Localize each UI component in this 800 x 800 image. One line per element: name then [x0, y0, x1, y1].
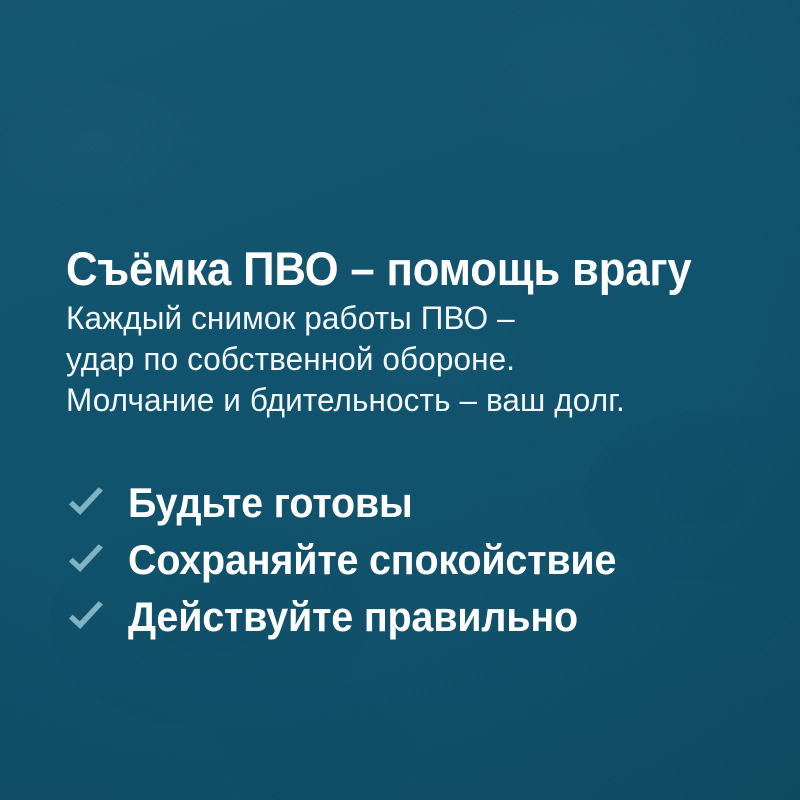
- poster-content: Съёмка ПВО – помощь врагу Каждый снимок …: [0, 0, 800, 800]
- list-item-label: Будьте готовы: [128, 480, 412, 526]
- subtitle-line-3: Молчание и бдительность – ваш долг.: [66, 380, 775, 421]
- subtitle-line-2: удар по собственной обороне.: [66, 339, 775, 380]
- list-item: Сохраняйте спокойствие: [66, 531, 766, 588]
- check-icon: [66, 597, 106, 637]
- checklist: Будьте готовы Сохраняйте спокойствие Дей…: [66, 474, 766, 645]
- list-item: Будьте готовы: [66, 474, 766, 531]
- check-icon: [66, 483, 106, 523]
- check-icon: [66, 540, 106, 580]
- list-item: Действуйте правильно: [66, 588, 766, 645]
- subtitle-line-1: Каждый снимок работы ПВО –: [66, 298, 775, 339]
- subtitle-block: Каждый снимок работы ПВО – удар по собст…: [66, 298, 775, 421]
- info-poster: Съёмка ПВО – помощь врагу Каждый снимок …: [0, 0, 800, 800]
- list-item-label: Действуйте правильно: [128, 594, 578, 640]
- list-item-label: Сохраняйте спокойствие: [128, 537, 616, 583]
- page-title: Съёмка ПВО – помощь врагу: [66, 242, 717, 296]
